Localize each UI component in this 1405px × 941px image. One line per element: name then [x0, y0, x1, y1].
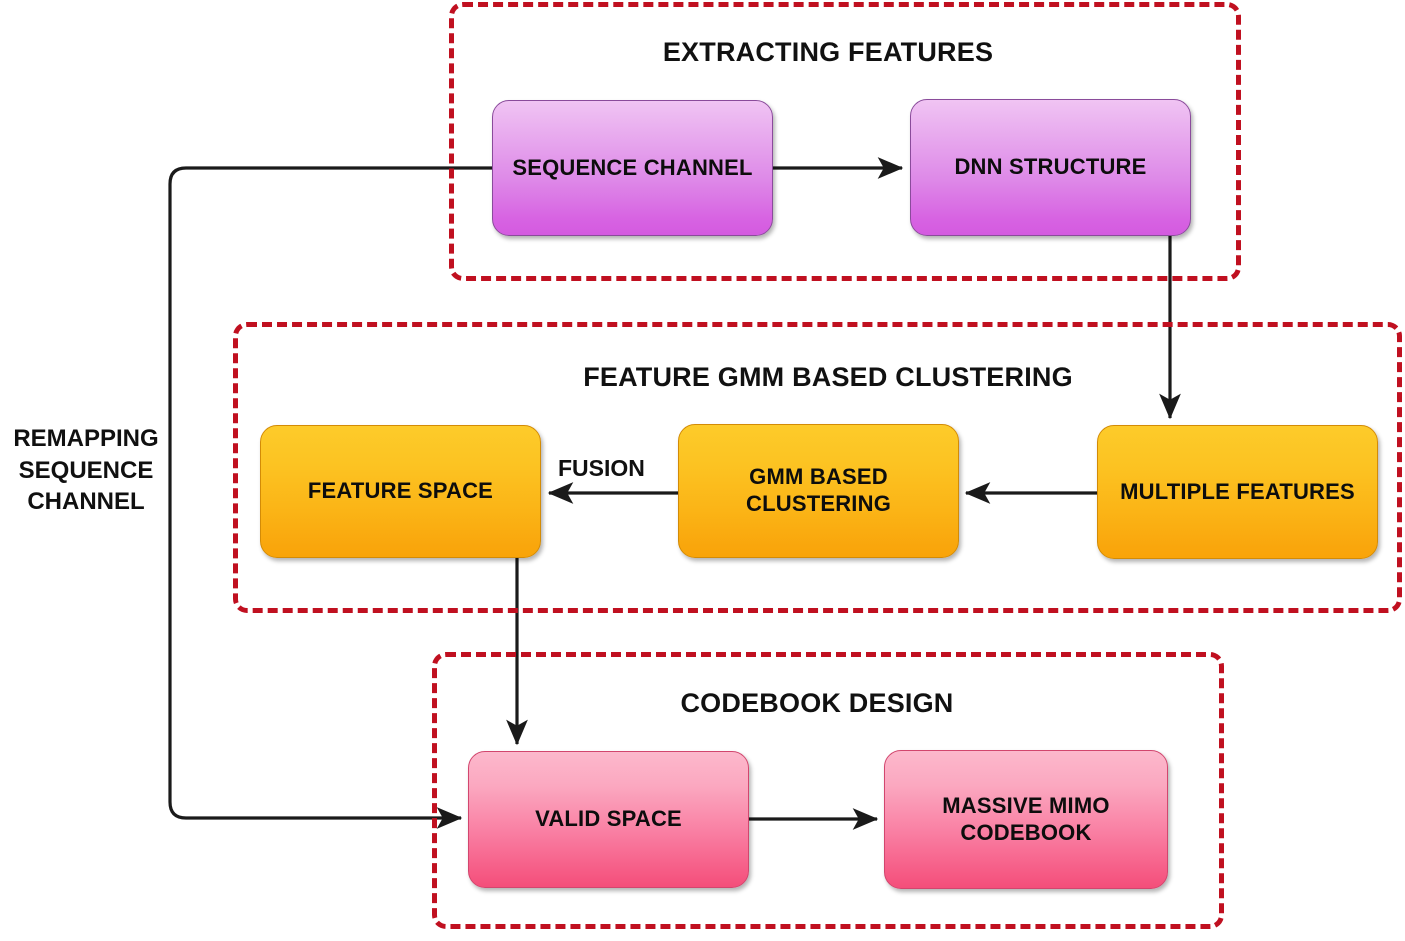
node-multiple-features-label: MULTIPLE FEATURES [1120, 479, 1355, 506]
node-feature-space[interactable]: FEATURE SPACE [260, 425, 541, 558]
group-title-codebook-design: CODEBOOK DESIGN [680, 688, 953, 719]
group-title-feature-gmm-based-clustering: FEATURE GMM BASED CLUSTERING [583, 362, 1073, 393]
node-gmm-based-clustering-label: GMM BASED CLUSTERING [689, 464, 948, 518]
node-multiple-features[interactable]: MULTIPLE FEATURES [1097, 425, 1378, 559]
node-sequence-channel-label: SEQUENCE CHANNEL [512, 155, 752, 182]
node-dnn-structure[interactable]: DNN STRUCTURE [910, 99, 1191, 236]
group-title-extracting-features: EXTRACTING FEATURES [663, 37, 993, 68]
node-dnn-structure-label: DNN STRUCTURE [954, 154, 1146, 181]
node-valid-space-label: VALID SPACE [535, 806, 682, 833]
node-massive-mimo-codebook-label: MASSIVE MIMO CODEBOOK [895, 793, 1157, 847]
node-gmm-based-clustering[interactable]: GMM BASED CLUSTERING [678, 424, 959, 558]
node-feature-space-label: FEATURE SPACE [308, 478, 493, 505]
node-sequence-channel[interactable]: SEQUENCE CHANNEL [492, 100, 773, 236]
node-massive-mimo-codebook[interactable]: MASSIVE MIMO CODEBOOK [884, 750, 1168, 889]
label-fusion: FUSION [558, 453, 645, 483]
label-remapping-sequence-channel: REMAPPING SEQUENCE CHANNEL [6, 423, 166, 518]
node-valid-space[interactable]: VALID SPACE [468, 751, 749, 888]
diagram-canvas: EXTRACTING FEATURES FEATURE GMM BASED CL… [0, 0, 1405, 941]
